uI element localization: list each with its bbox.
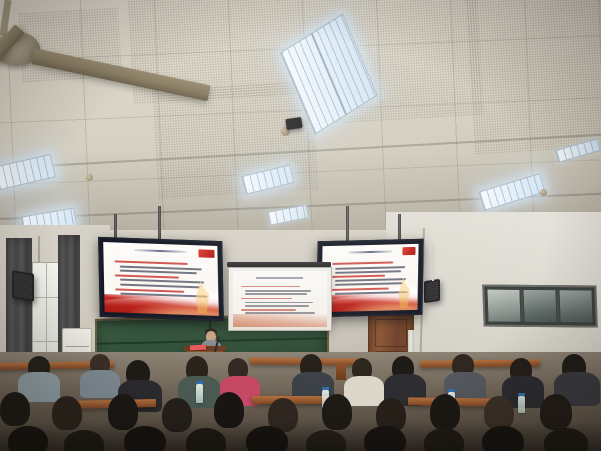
student-torso	[344, 376, 384, 406]
left-tv-slide	[103, 242, 219, 316]
slide-line	[336, 266, 405, 270]
student-torso	[80, 370, 120, 398]
bottle-cap	[322, 387, 329, 390]
ceiling-drop-wire	[432, 245, 434, 281]
door-panel-top	[375, 319, 407, 347]
sprinkler-head-3	[540, 189, 547, 196]
sprinkler-head-2	[86, 174, 93, 181]
slide-line	[332, 275, 386, 278]
slide-line	[120, 270, 198, 275]
seated-students	[0, 352, 601, 451]
wall-speaker-right	[424, 279, 440, 303]
slide-line	[245, 305, 309, 307]
slide-line	[331, 287, 389, 290]
bottle-cap	[448, 389, 455, 392]
bottle-cap	[518, 393, 525, 396]
window-mullion-h2	[33, 341, 61, 342]
slide-line	[115, 260, 188, 265]
right-high-window	[482, 285, 598, 328]
slide-line	[245, 293, 307, 295]
right-wall-tv	[316, 239, 423, 318]
window-pane-3	[558, 289, 593, 323]
water-bottle	[518, 396, 525, 413]
foreground-shadow	[0, 421, 601, 451]
desk-leg-far-2	[336, 364, 346, 380]
bottle-cap	[196, 381, 203, 384]
slide-footer-band	[233, 314, 327, 327]
slide-line	[116, 288, 184, 292]
slide-title-bar	[256, 277, 303, 279]
left-wall-tv	[98, 237, 224, 321]
speaker-mesh	[14, 273, 32, 300]
slide-logo-badge	[198, 249, 214, 258]
classroom-photo	[0, 0, 601, 451]
slide-line	[241, 298, 292, 300]
right-tv-slide	[321, 244, 418, 312]
water-bottle	[196, 384, 203, 403]
slide-line	[245, 302, 313, 304]
slide-line	[335, 282, 402, 286]
slide-line	[245, 290, 311, 292]
window-mullion-h	[33, 297, 61, 298]
slide-line	[332, 261, 394, 265]
podium-papers	[190, 345, 206, 351]
window-pane-1	[486, 289, 521, 323]
cabinet-seam	[65, 346, 89, 347]
window-pane-2	[522, 289, 557, 323]
slide-line	[120, 283, 200, 288]
slide-line	[241, 309, 296, 311]
perforation-texture-3	[465, 0, 601, 154]
ceiling-speaker-box	[285, 117, 302, 130]
slide-line	[335, 278, 406, 282]
speaker-mesh	[426, 281, 438, 301]
wall-speaker-left	[12, 270, 34, 301]
projection-screen	[228, 267, 332, 331]
slide-logo-badge	[402, 247, 416, 255]
slide-line	[336, 270, 401, 274]
slide-line	[241, 286, 299, 288]
projected-slide	[233, 271, 327, 327]
